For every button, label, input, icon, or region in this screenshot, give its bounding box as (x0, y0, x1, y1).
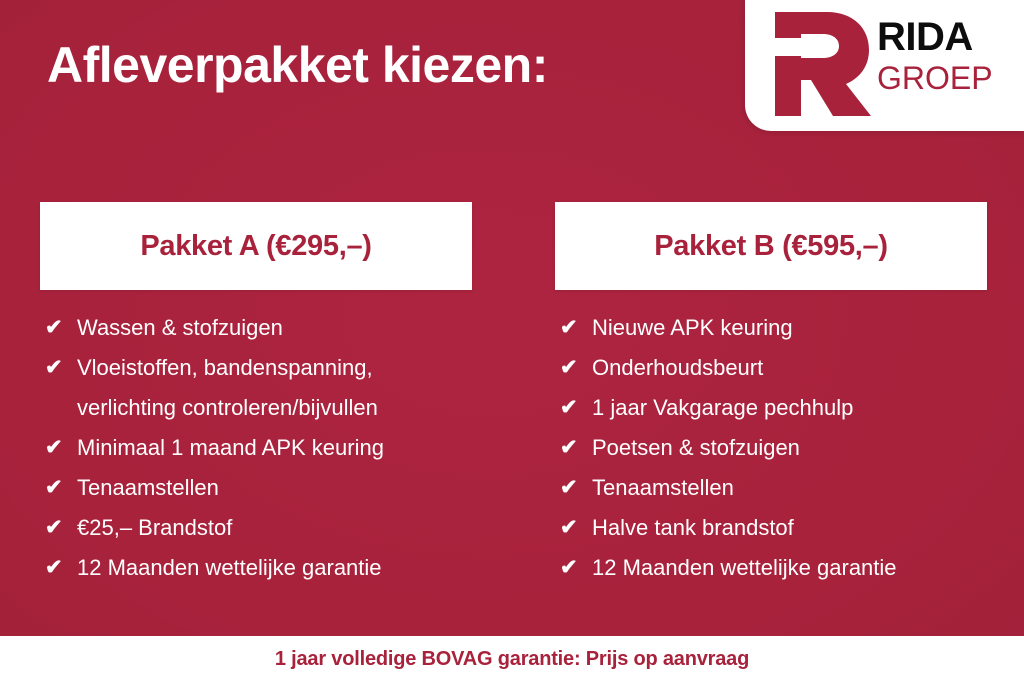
check-icon: ✔ (40, 308, 77, 348)
check-icon: ✔ (555, 508, 592, 548)
list-item: ✔ Onderhoudsbeurt (555, 348, 987, 388)
check-icon: ✔ (40, 468, 77, 508)
list-item-label: €25,– Brandstof (77, 508, 472, 548)
list-item: ✔ Tenaamstellen (40, 468, 472, 508)
afleverpakket-poster: Afleverpakket kiezen: RIDA GROEP Pakket … (0, 0, 1024, 682)
package-header-pakket-b: Pakket B (€595,–) (555, 202, 987, 290)
list-item: ✔ 12 Maanden wettelijke garantie (555, 548, 987, 588)
list-item-label: Vloeistoffen, bandenspanning, verlichtin… (77, 348, 472, 428)
list-item: ✔ 1 jaar Vakgarage pechhulp (555, 388, 987, 428)
list-item: ✔ Vloeistoffen, bandenspanning, verlicht… (40, 348, 472, 428)
list-item-label: Tenaamstellen (592, 468, 987, 508)
package-feature-list-pakket-b: ✔ Nieuwe APK keuring ✔ Onderhoudsbeurt ✔… (555, 290, 987, 588)
package-card-pakket-b[interactable]: Pakket B (€595,–) ✔ Nieuwe APK keuring ✔… (555, 202, 987, 588)
footer-banner: 1 jaar volledige BOVAG garantie: Prijs o… (0, 636, 1024, 682)
list-item-label: 12 Maanden wettelijke garantie (592, 548, 987, 588)
package-card-pakket-a[interactable]: Pakket A (€295,–) ✔ Wassen & stofzuigen … (40, 202, 472, 588)
logo-text-rida: RIDA (877, 16, 1017, 58)
package-feature-list-pakket-a: ✔ Wassen & stofzuigen ✔ Vloeistoffen, ba… (40, 290, 472, 588)
footer-text: 1 jaar volledige BOVAG garantie: Prijs o… (275, 648, 749, 671)
check-icon: ✔ (40, 348, 77, 388)
package-columns: Pakket A (€295,–) ✔ Wassen & stofzuigen … (0, 202, 1024, 602)
check-icon: ✔ (40, 508, 77, 548)
check-icon: ✔ (40, 428, 77, 468)
list-item-label: 1 jaar Vakgarage pechhulp (592, 388, 987, 428)
check-icon: ✔ (555, 308, 592, 348)
list-item: ✔ Wassen & stofzuigen (40, 308, 472, 348)
list-item-label: Onderhoudsbeurt (592, 348, 987, 388)
check-icon: ✔ (555, 468, 592, 508)
check-icon: ✔ (555, 348, 592, 388)
package-header-pakket-a: Pakket A (€295,–) (40, 202, 472, 290)
list-item-label: 12 Maanden wettelijke garantie (77, 548, 472, 588)
check-icon: ✔ (555, 548, 592, 588)
logo-text-groep: GROEP (877, 60, 1017, 96)
list-item: ✔ Halve tank brandstof (555, 508, 987, 548)
page-title: Afleverpakket kiezen: (47, 33, 548, 97)
package-title-pakket-b: Pakket B (€595,–) (654, 230, 888, 263)
logo-wordmark: RIDA GROEP (877, 16, 1017, 96)
check-icon: ✔ (555, 428, 592, 468)
list-item-label: Minimaal 1 maand APK keuring (77, 428, 472, 468)
list-item: ✔ Poetsen & stofzuigen (555, 428, 987, 468)
list-item: ✔ Nieuwe APK keuring (555, 308, 987, 348)
list-item-label: Poetsen & stofzuigen (592, 428, 987, 468)
list-item-label: Wassen & stofzuigen (77, 308, 472, 348)
list-item: ✔ €25,– Brandstof (40, 508, 472, 548)
list-item: ✔ 12 Maanden wettelijke garantie (40, 548, 472, 588)
check-icon: ✔ (555, 388, 592, 428)
package-title-pakket-a: Pakket A (€295,–) (140, 230, 371, 263)
rida-groep-logo: RIDA GROEP (745, 0, 1024, 131)
list-item: ✔ Minimaal 1 maand APK keuring (40, 428, 472, 468)
logo-r-mark-icon (767, 8, 875, 120)
list-item-label: Nieuwe APK keuring (592, 308, 987, 348)
list-item-label: Halve tank brandstof (592, 508, 987, 548)
check-icon: ✔ (40, 548, 77, 588)
list-item-label: Tenaamstellen (77, 468, 472, 508)
list-item: ✔ Tenaamstellen (555, 468, 987, 508)
